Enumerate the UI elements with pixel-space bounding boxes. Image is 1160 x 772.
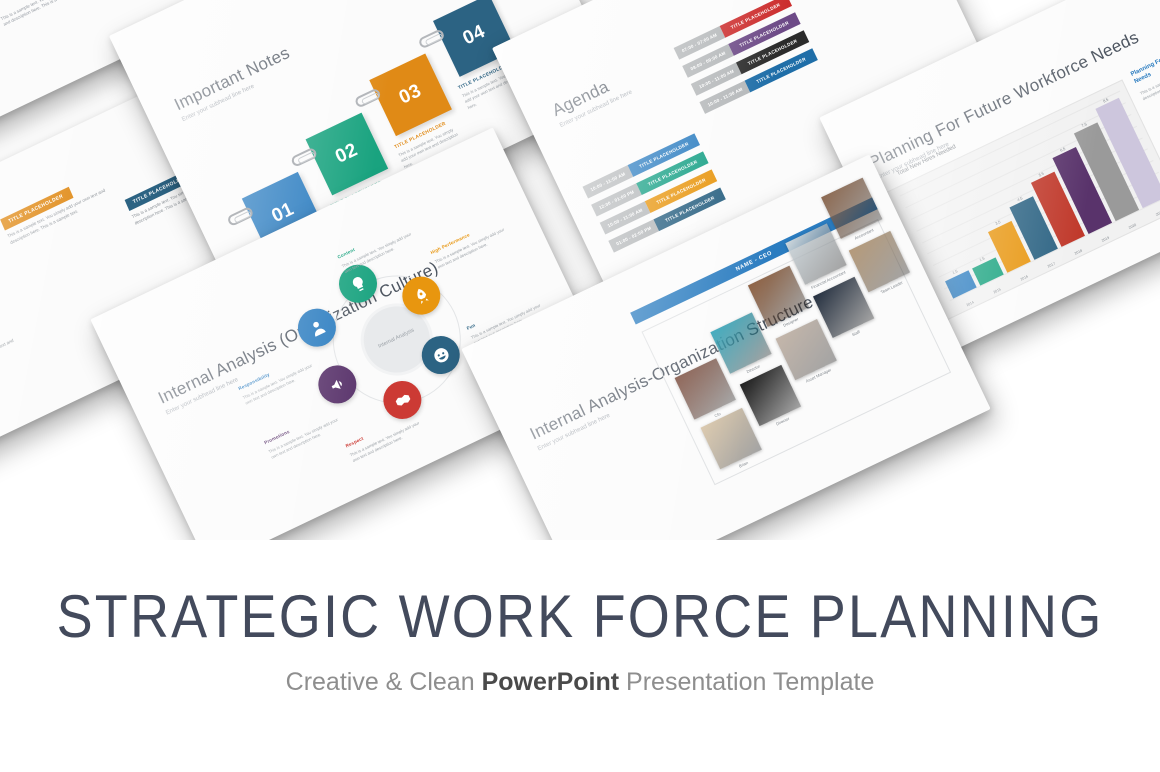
- subtitle-before: Creative & Clean: [286, 668, 482, 696]
- paperclip-icon: [354, 87, 382, 108]
- chart-x-tick: 2020: [1120, 219, 1145, 234]
- chart-x-tick: 2021: [1147, 206, 1160, 221]
- chart-x-tick: 2015: [985, 283, 1010, 298]
- chart-x-tick: 2014: [958, 296, 983, 311]
- objective-item: TITLE PLACEHOLDER This is a sample text.…: [0, 300, 56, 397]
- chart-x-tick: 2017: [1039, 258, 1064, 273]
- paperclip-icon: [417, 28, 445, 49]
- paperclip-icon: [226, 206, 254, 227]
- chart-bar: [972, 257, 1004, 286]
- page-title: STRATEGIC WORK FORCE PLANNING: [0, 582, 1160, 651]
- structure-members: BrianCfoDirectorDirectorDesignerAsset Ma…: [644, 215, 948, 484]
- subtitle-after: Presentation Template: [619, 668, 874, 696]
- chart-bar: [945, 270, 977, 299]
- poster-canvas: This is a sample text. You simply add yo…: [0, 0, 1160, 772]
- paperclip-icon: [290, 147, 318, 168]
- chart-x-tick: 2016: [1012, 271, 1037, 286]
- subtitle-strong: PowerPoint: [482, 668, 620, 696]
- page-subtitle: Creative & Clean PowerPoint Presentation…: [0, 668, 1160, 697]
- chart-x-tick: 2019: [1093, 232, 1118, 247]
- slide-mockup-collage: This is a sample text. You simply add yo…: [0, 0, 1160, 540]
- partial-row: This is a sample text. You simply add yo…: [0, 0, 99, 78]
- chart-x-tick: 2018: [1066, 245, 1091, 260]
